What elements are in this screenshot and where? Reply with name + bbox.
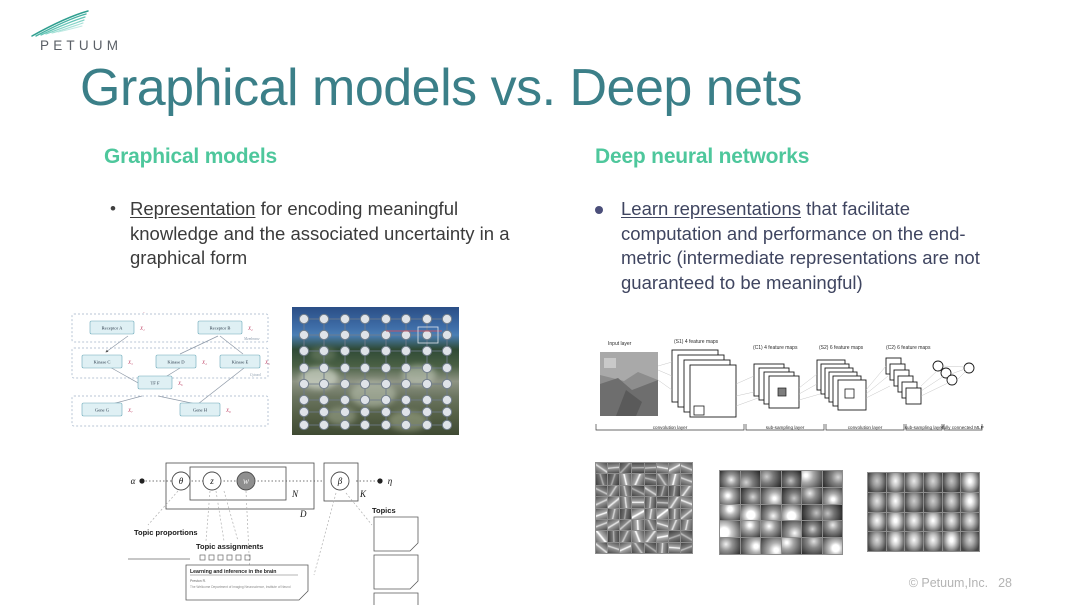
svg-text:The Wellcome Department of Ima: The Wellcome Department of Imaging Neuro… — [190, 585, 291, 589]
petuum-logo-wordmark: PETUUM — [40, 38, 122, 53]
svg-text:θ: θ — [179, 476, 184, 486]
svg-text:Cytosol: Cytosol — [250, 373, 261, 377]
svg-text:X₃: X₃ — [127, 361, 133, 366]
svg-text:Kinase D: Kinase D — [167, 360, 185, 365]
copyright-text: © Petuum,Inc. — [909, 576, 988, 590]
petuum-logo-mark — [26, 8, 146, 40]
right-bullet-emphasis: Learn representations — [621, 198, 801, 219]
svg-text:Receptor A: Receptor A — [102, 326, 123, 331]
svg-text:Membrane: Membrane — [243, 337, 260, 341]
right-column: Deep neural networks Learn representatio… — [595, 145, 1015, 295]
left-bullet-item: • Representation for encoding meaningful… — [104, 197, 534, 271]
svg-text:Kinase E: Kinase E — [232, 360, 249, 365]
svg-text:Input layer: Input layer — [608, 341, 632, 347]
feature-grid-faces — [867, 472, 980, 552]
svg-text:convolution layer: convolution layer — [848, 425, 883, 430]
svg-text:Kinase C: Kinase C — [94, 360, 111, 365]
svg-text:K: K — [359, 489, 367, 499]
bullet-dot-icon — [595, 197, 621, 214]
svg-text:β: β — [337, 476, 343, 486]
petuum-logo: PETUUM — [26, 8, 146, 54]
svg-text:Topic proportions: Topic proportions — [134, 528, 198, 537]
slide-title: Graphical models vs. Deep nets — [80, 58, 802, 118]
figure-cnn-architecture: Input layer (S1) 4 feature maps (C1) 4 f… — [586, 336, 986, 444]
svg-text:X₄: X₄ — [201, 361, 207, 366]
svg-text:D: D — [299, 509, 307, 519]
svg-text:fully connected MLP: fully connected MLP — [942, 425, 983, 430]
svg-text:X₆: X₆ — [177, 382, 183, 387]
bullet-marker-icon: • — [104, 197, 130, 221]
svg-text:X₁X₁: X₁X₁ — [139, 312, 145, 332]
svg-text:Learning and inference in the: Learning and inference in the brain — [190, 569, 276, 575]
left-column-heading: Graphical models — [104, 145, 534, 169]
right-bullet-item: Learn representations that facilitate co… — [595, 197, 1015, 295]
svg-text:(S2) 6 feature maps: (S2) 6 feature maps — [819, 345, 864, 351]
left-bullet-emphasis: Representation — [130, 198, 255, 219]
svg-text:TF F: TF F — [150, 381, 160, 386]
slide-footer: © Petuum,Inc.28 — [909, 576, 1012, 590]
mrf-node-grid — [292, 307, 459, 435]
svg-text:Receptor B: Receptor B — [210, 326, 231, 331]
svg-text:Gene G: Gene G — [95, 408, 110, 413]
svg-text:(C1) 4 feature maps: (C1) 4 feature maps — [753, 345, 798, 351]
svg-text:(C2) 6 feature maps: (C2) 6 feature maps — [886, 345, 931, 351]
page-number: 28 — [998, 576, 1012, 590]
svg-text:Gene H: Gene H — [193, 408, 208, 413]
svg-text:sub-sampling layer: sub-sampling layer — [905, 425, 944, 430]
cnn-input-image — [600, 352, 658, 416]
svg-text:convolution layer: convolution layer — [653, 425, 688, 430]
right-column-heading: Deep neural networks — [595, 145, 1015, 169]
svg-text:X₇: X₇ — [127, 409, 133, 414]
svg-text:N: N — [291, 489, 299, 499]
svg-text:w: w — [243, 476, 249, 486]
right-bullet-text: Learn representations that facilitate co… — [621, 197, 1015, 295]
svg-text:Topics: Topics — [372, 506, 396, 515]
svg-text:z: z — [209, 476, 214, 486]
left-bullet-text: Representation for encoding meaningful k… — [130, 197, 534, 271]
svg-text:Topic assignments: Topic assignments — [196, 542, 263, 551]
svg-text:X₅: X₅ — [264, 361, 270, 366]
figure-learned-features — [595, 452, 980, 557]
figure-mrf-grid-on-image — [292, 307, 459, 435]
figure-lda-plate-model: α θ z w β η N D K Topic proportions Topi… — [128, 455, 448, 605]
feature-grid-edges — [595, 462, 693, 554]
figure-biological-network: Receptor A Receptor B Kinase C Kinase D … — [68, 312, 283, 430]
svg-text:X₂: X₂ — [247, 327, 253, 332]
svg-text:(S1) 4 feature maps: (S1) 4 feature maps — [674, 339, 719, 345]
svg-text:Preston R.: Preston R. — [190, 579, 206, 583]
left-column: Graphical models • Representation for en… — [104, 145, 534, 271]
svg-text:X₈: X₈ — [225, 409, 231, 414]
svg-text:α: α — [131, 476, 136, 486]
svg-text:η: η — [388, 476, 393, 486]
lda-doc-snippet: Learning and inference in the brain Pres… — [186, 565, 308, 600]
feature-grid-parts — [719, 470, 843, 555]
svg-text:sub-sampling layer: sub-sampling layer — [766, 425, 805, 430]
